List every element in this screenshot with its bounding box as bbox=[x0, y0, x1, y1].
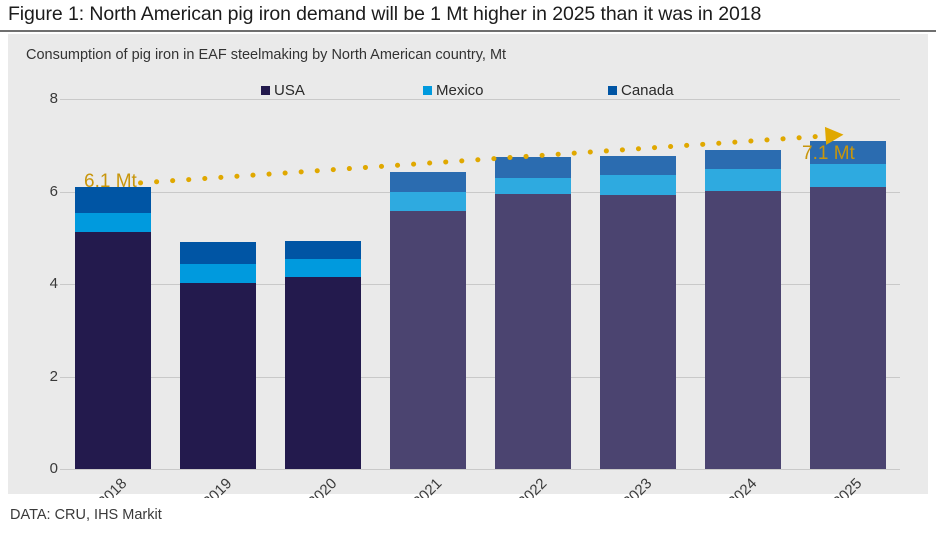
legend-item-canada[interactable]: Canada bbox=[608, 82, 674, 99]
bar-segment-usa[interactable] bbox=[600, 195, 676, 469]
bar-group-2021[interactable] bbox=[390, 99, 466, 469]
bar-segment-usa[interactable] bbox=[495, 194, 571, 469]
annotation-end-total: 7.1 Mt bbox=[802, 143, 855, 165]
legend-label: USA bbox=[274, 82, 305, 99]
chart-subtitle: Consumption of pig iron in EAF steelmaki… bbox=[26, 47, 506, 63]
figure-title-bar: Figure 1: North American pig iron demand… bbox=[0, 0, 936, 32]
legend-swatch-usa-icon bbox=[261, 86, 270, 95]
bar-segment-usa[interactable] bbox=[285, 277, 361, 469]
bar-segment-canada[interactable] bbox=[390, 172, 466, 193]
bar-group-2022[interactable] bbox=[495, 99, 571, 469]
legend-swatch-canada-icon bbox=[608, 86, 617, 95]
bar-segment-mexico[interactable] bbox=[285, 259, 361, 278]
bar-segment-canada[interactable] bbox=[495, 157, 571, 178]
figure-footer: DATA: CRU, IHS Markit bbox=[0, 498, 936, 536]
bar-segment-mexico[interactable] bbox=[705, 169, 781, 190]
bar-group-2018[interactable] bbox=[75, 99, 151, 469]
y-axis-tick-label: 8 bbox=[18, 90, 58, 107]
plot-area: 02468 20182019202020212022202320242025 6… bbox=[60, 99, 900, 469]
bar-segment-usa[interactable] bbox=[180, 283, 256, 469]
bar-segment-usa[interactable] bbox=[810, 187, 886, 469]
bar-segment-mexico[interactable] bbox=[180, 264, 256, 283]
bar-group-2024[interactable] bbox=[705, 99, 781, 469]
bar-group-2020[interactable] bbox=[285, 99, 361, 469]
y-axis-tick-label: 4 bbox=[18, 275, 58, 292]
bar-segment-canada[interactable] bbox=[180, 242, 256, 264]
legend-label: Canada bbox=[621, 82, 674, 99]
bar-segment-canada[interactable] bbox=[600, 156, 676, 175]
y-axis-tick-label: 2 bbox=[18, 368, 58, 385]
bar-segment-mexico[interactable] bbox=[75, 213, 151, 232]
annotation-start-total: 6.1 Mt bbox=[84, 171, 137, 193]
bar-segment-usa[interactable] bbox=[705, 191, 781, 469]
y-axis-tick-label: 6 bbox=[18, 183, 58, 200]
bar-group-2023[interactable] bbox=[600, 99, 676, 469]
bar-group-2019[interactable] bbox=[180, 99, 256, 469]
data-source-note: DATA: CRU, IHS Markit bbox=[10, 507, 162, 523]
page-title: Figure 1: North American pig iron demand… bbox=[8, 3, 928, 26]
bar-segment-canada[interactable] bbox=[705, 150, 781, 169]
bar-segment-usa[interactable] bbox=[390, 211, 466, 469]
legend-item-usa[interactable]: USA bbox=[261, 82, 305, 99]
bar-segment-mexico[interactable] bbox=[390, 192, 466, 211]
legend-label: Mexico bbox=[436, 82, 484, 99]
legend-item-mexico[interactable]: Mexico bbox=[423, 82, 484, 99]
y-axis-tick-label: 0 bbox=[18, 460, 58, 477]
figure-container: Figure 1: North American pig iron demand… bbox=[0, 0, 936, 536]
chart-panel: Consumption of pig iron in EAF steelmaki… bbox=[8, 34, 928, 494]
bar-segment-mexico[interactable] bbox=[600, 175, 676, 195]
bar-segment-canada[interactable] bbox=[285, 241, 361, 259]
bar-segment-mexico[interactable] bbox=[495, 178, 571, 194]
legend-swatch-mexico-icon bbox=[423, 86, 432, 95]
gridline bbox=[60, 469, 900, 470]
bar-segment-usa[interactable] bbox=[75, 232, 151, 469]
bar-segment-mexico[interactable] bbox=[810, 164, 886, 187]
